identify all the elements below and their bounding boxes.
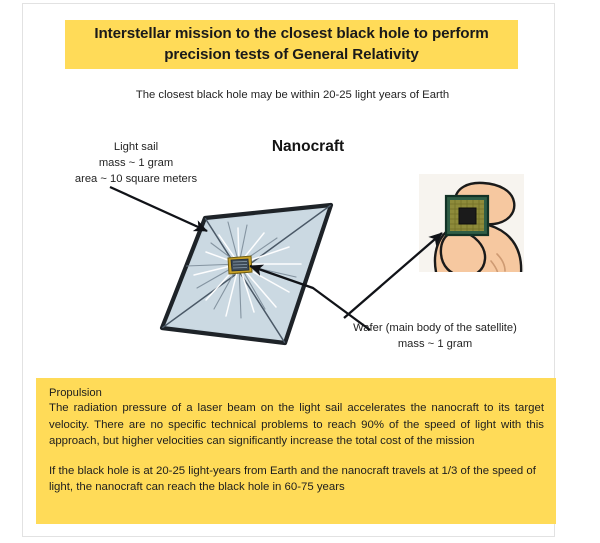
propulsion-heading: Propulsion: [49, 387, 544, 399]
wafer-line-2: mass ~ 1 gram: [322, 337, 548, 353]
propulsion-paragraph-1: The radiation pressure of a laser beam o…: [49, 400, 544, 450]
propulsion-paragraph-2: If the black hole is at 20-25 light-year…: [49, 463, 544, 496]
light-sail-line-3: area ~ 10 square meters: [40, 172, 232, 188]
light-sail-annotation: Light sail mass ~ 1 gram area ~ 10 squar…: [40, 140, 232, 188]
slide-root: Interstellar mission to the closest blac…: [0, 0, 600, 543]
subtitle-text: The closest black hole may be within 20-…: [60, 89, 525, 101]
page-title: Interstellar mission to the closest blac…: [71, 24, 512, 65]
section-heading-nanocraft: Nanocraft: [228, 138, 388, 156]
propulsion-box: Propulsion The radiation pressure of a l…: [36, 378, 556, 524]
wafer-line-1: Wafer (main body of the satellite): [322, 321, 548, 337]
title-banner: Interstellar mission to the closest blac…: [65, 20, 518, 69]
light-sail-line-1: Light sail: [40, 140, 232, 156]
light-sail-line-2: mass ~ 1 gram: [40, 156, 232, 172]
wafer-annotation: Wafer (main body of the satellite) mass …: [322, 321, 548, 353]
